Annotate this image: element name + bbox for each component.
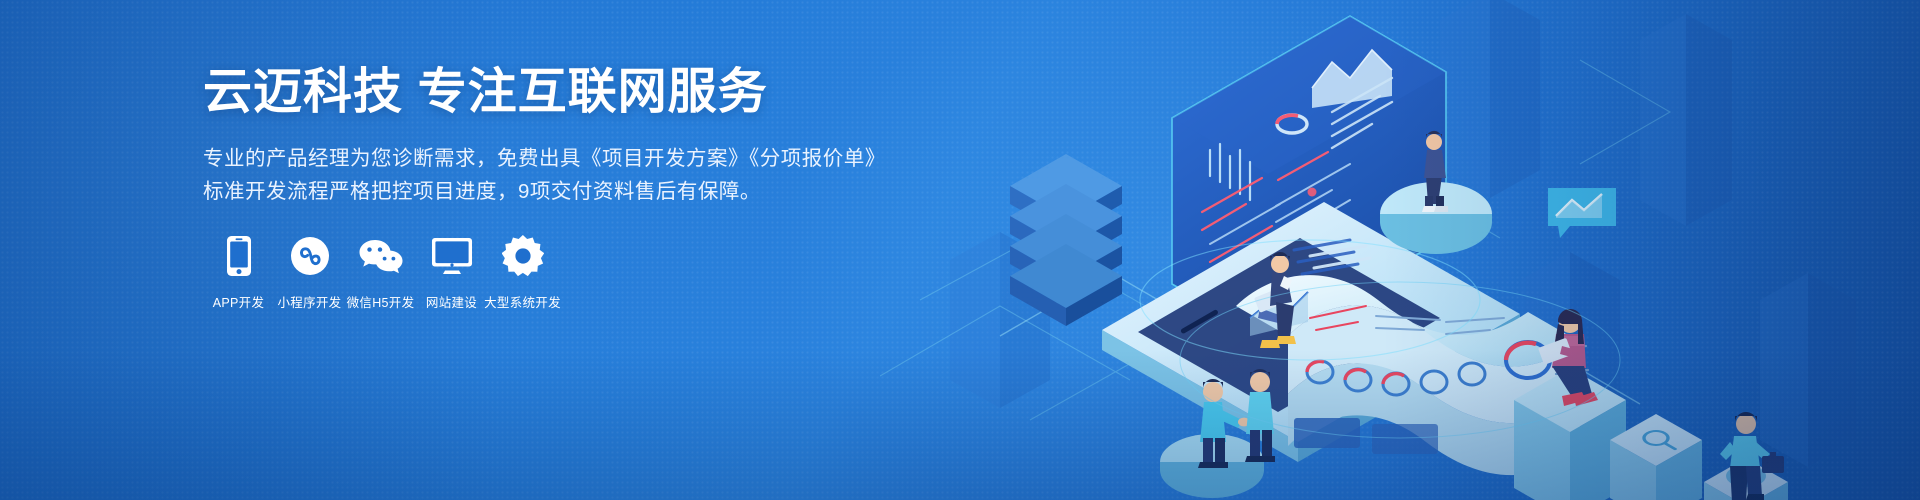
subtitle-line-2: 标准开发流程严格把控项目进度，9项交付资料售后有保障。 xyxy=(203,175,923,208)
mini-program-icon xyxy=(290,233,330,279)
promo-banner: 云迈科技 专注互联网服务 专业的产品经理为您诊断需求，免费出具《项目开发方案》《… xyxy=(0,0,1920,500)
service-item-app[interactable]: APP开发 xyxy=(203,233,274,311)
service-item-wechat-h5[interactable]: 微信H5开发 xyxy=(345,233,416,311)
service-label: 网站建设 xyxy=(426,292,477,311)
page-title: 云迈科技 专注互联网服务 xyxy=(203,66,923,119)
subtitle-line-1: 专业的产品经理为您诊断需求，免费出具《项目开发方案》《分项报价单》 xyxy=(203,142,923,175)
mobile-phone-icon xyxy=(226,233,252,279)
service-label: 微信H5开发 xyxy=(347,292,415,311)
server-stack xyxy=(1010,154,1122,326)
service-label: APP开发 xyxy=(213,292,265,311)
gear-icon xyxy=(502,233,544,279)
service-item-large-system[interactable]: 大型系统开发 xyxy=(487,233,558,311)
isometric-illustration xyxy=(880,0,1920,500)
service-item-miniprogram[interactable]: 小程序开发 xyxy=(274,233,345,311)
desktop-monitor-icon xyxy=(431,233,473,279)
chart-bubble xyxy=(1548,188,1616,238)
service-label: 大型系统开发 xyxy=(484,292,561,311)
service-label: 小程序开发 xyxy=(277,292,341,311)
wechat-icon xyxy=(358,233,404,279)
banner-copy: 云迈科技 专注互联网服务 专业的产品经理为您诊断需求，免费出具《项目开发方案》《… xyxy=(203,66,923,208)
banner-subtitle: 专业的产品经理为您诊断需求，免费出具《项目开发方案》《分项报价单》 标准开发流程… xyxy=(203,142,923,208)
service-icon-row: APP开发 小程序开发 xyxy=(203,233,558,311)
service-item-website[interactable]: 网站建设 xyxy=(416,233,487,311)
